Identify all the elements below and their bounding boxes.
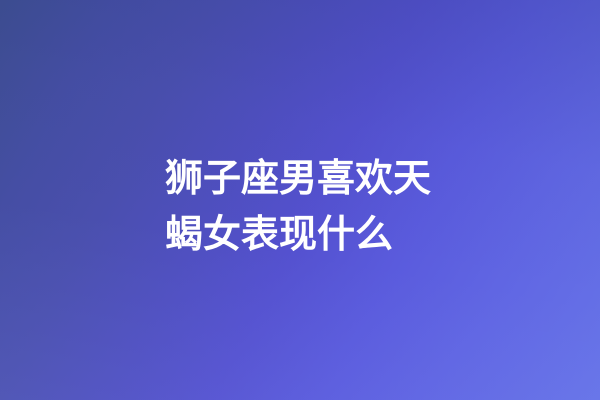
image-card: 狮子座男喜欢天 蝎女表现什么 [0,0,600,400]
headline-line-2: 蝎女表现什么 [165,206,465,262]
headline-line-1: 狮子座男喜欢天 [165,150,465,206]
headline-text: 狮子座男喜欢天 蝎女表现什么 [165,150,465,262]
